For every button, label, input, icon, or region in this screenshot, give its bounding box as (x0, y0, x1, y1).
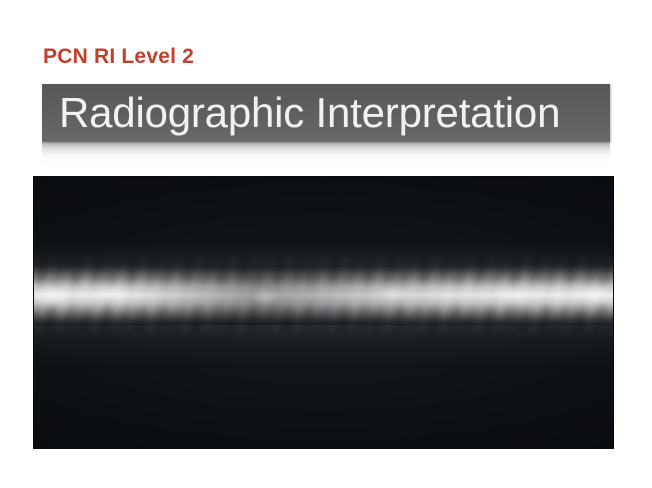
page-title: Radiographic Interpretation (59, 92, 560, 134)
slide-kicker: PCN RI Level 2 (43, 44, 194, 70)
title-bar-shadow (42, 142, 610, 164)
title-bar: Radiographic Interpretation (42, 84, 610, 142)
weld-bead (34, 265, 613, 325)
weld-radiograph-image (34, 177, 613, 448)
title-bar-container: Radiographic Interpretation (42, 84, 610, 142)
slide: PCN RI Level 2 Radiographic Interpretati… (0, 0, 652, 488)
weld-bead-width-modulation (34, 265, 613, 325)
